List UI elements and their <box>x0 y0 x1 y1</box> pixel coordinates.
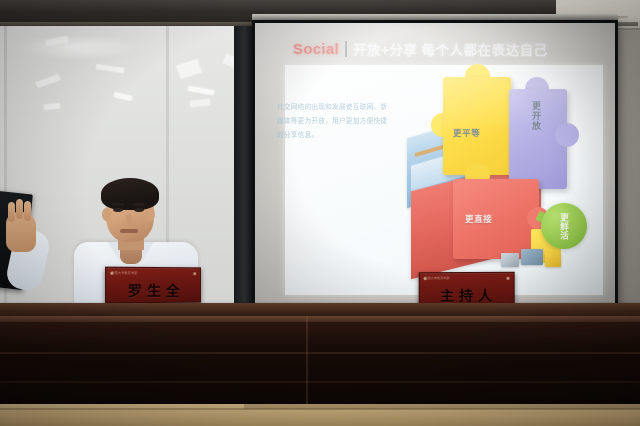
nameplate-org: 西南大学教育学部 <box>425 276 450 280</box>
title-divider <box>345 41 347 57</box>
podium-front-panel <box>0 322 640 404</box>
finger <box>16 199 23 219</box>
hair <box>101 178 159 210</box>
hand <box>6 212 36 252</box>
eyebrow <box>112 203 124 206</box>
photo-chip <box>521 249 543 265</box>
nose <box>126 214 132 224</box>
speech-bubble-label: 更鲜活 <box>559 213 570 240</box>
wall-light-reflection <box>18 34 138 60</box>
puzzle-label: 更直接 <box>465 213 492 225</box>
finger <box>24 201 31 221</box>
puzzle-knob <box>555 123 579 147</box>
slide-title: Social 开放+分享 每个人都在表达自己 <box>293 39 548 59</box>
photo-chip <box>501 253 519 267</box>
nameplate-speaker: 西南大学教育学部 罗生全 <box>105 267 201 304</box>
eyebrow <box>133 203 145 206</box>
puzzle-label: 更开放 <box>529 101 543 131</box>
puzzle-body <box>443 77 511 175</box>
mouth <box>120 229 138 233</box>
projection-screen: Social 开放+分享 每个人都在表达自己 社交网络的出现和发展使互联网、新 … <box>255 23 615 305</box>
puzzle-illustration: 更平等 更开放 更直接 <box>405 63 590 263</box>
podium-groove <box>0 352 640 354</box>
slide-title-accent: Social <box>293 41 339 58</box>
slide-title-heading: 开放+分享 每个人都在表达自己 <box>353 39 548 59</box>
eye <box>113 208 123 212</box>
photo-chip <box>545 253 561 267</box>
projection-screen-frame: Social 开放+分享 每个人都在表达自己 社交网络的出现和发展使互联网、新 … <box>252 20 618 308</box>
puzzle-label: 更平等 <box>453 127 480 139</box>
puzzle-piece-yellow: 更平等 <box>443 77 511 175</box>
podium-panel-seam <box>306 316 308 406</box>
ear <box>146 208 155 221</box>
dark-pillar <box>234 26 252 326</box>
puzzle-piece-red: 更直接 <box>453 179 539 259</box>
podium-groove <box>0 381 640 383</box>
screenshot-root: Panasonic Social 开放+分享 每个人都在表达自己 社交网络的出现… <box>0 0 640 426</box>
podium-top <box>0 303 640 317</box>
puzzle-piece-purple: 更开放 <box>509 89 567 189</box>
nameplate-name: 罗生全 <box>123 283 185 300</box>
finger <box>8 202 15 222</box>
floor-step-shadow <box>244 404 640 409</box>
ear <box>102 208 111 221</box>
nameplate-org: 西南大学教育学部 <box>111 271 137 275</box>
eye <box>134 208 144 212</box>
nameplate-screw <box>506 277 509 280</box>
nameplate-screw <box>193 272 196 275</box>
speech-bubble-green: 更鲜活 <box>541 203 587 249</box>
